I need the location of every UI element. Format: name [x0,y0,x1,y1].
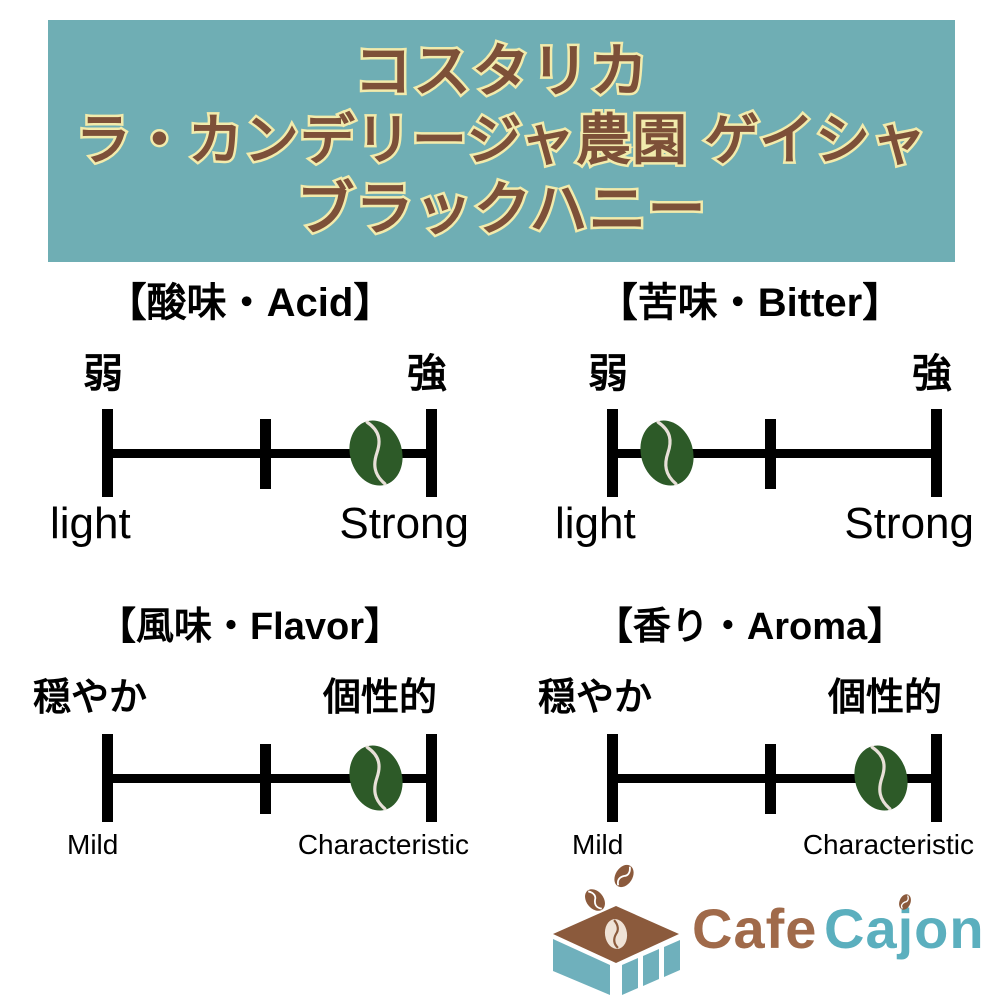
logo-word-cafe: Cafe [692,897,817,960]
floating-bean-1 [610,862,637,891]
title-banner: コスタリカ ラ・カンデリージャ農園 ゲイシャ ブラックハニー [48,20,955,262]
scale-axis-acid: 弱 強 light Strong [55,354,445,554]
axis-tick-max-bitter [931,409,942,497]
brand-logo: Cafe Cajon [540,862,1000,1000]
logo-wordmark: Cafe Cajon [692,890,1000,976]
axis-tick-max-flavor [426,734,437,822]
axis-high-label-jp-flavor: 個性的 [323,679,437,717]
scale-axis-flavor: 穏やか 個性的 Mild Characteristic [55,679,445,879]
axis-high-label-en-bitter: Strong [844,502,974,546]
axis-tick-min-acid [102,409,113,497]
axis-tick-mid-bitter [765,419,776,489]
title-line-2: ラ・カンデリージャ農園 ゲイシャ [76,107,927,174]
axis-low-label-en-bitter: light [555,502,636,546]
coffee-bean-marker-aroma [850,740,912,816]
axis-tick-mid-acid [260,419,271,489]
scale-block-flavor: 【風味・Flavor】 穏やか 個性的 Mild Characteristic [0,587,500,917]
cajon-slat-3 [664,940,680,977]
floating-bean-2 [581,885,609,914]
scale-axis-aroma: 穏やか 個性的 Mild Characteristic [560,679,950,879]
scale-title-bitter: 【苦味・Bitter】 [500,270,1000,328]
axis-high-label-jp-bitter: 強 [912,354,952,394]
axis-tick-max-acid [426,409,437,497]
cajon-slat-2 [643,949,659,986]
axis-tick-min-aroma [607,734,618,822]
axis-tick-min-bitter [607,409,618,497]
axis-low-label-jp-flavor: 穏やか [33,679,147,717]
axis-low-label-en-acid: light [50,502,131,546]
scale-title-aroma: 【香り・Aroma】 [500,595,1000,650]
scale-title-acid: 【酸味・Acid】 [0,270,500,328]
scale-block-acid: 【酸味・Acid】 弱 強 light Strong [0,262,500,592]
cajon-box-icon [540,862,700,1000]
axis-low-label-jp-acid: 弱 [83,354,123,394]
axis-low-label-jp-aroma: 穏やか [538,679,652,717]
axis-high-label-en-aroma: Characteristic [803,831,974,859]
axis-high-label-en-flavor: Characteristic [298,831,469,859]
scale-block-bitter: 【苦味・Bitter】 弱 強 light Strong [500,262,1000,592]
title-line-3: ブラックハニー [296,175,706,246]
axis-tick-mid-flavor [260,744,271,814]
axis-low-label-en-aroma: Mild [572,831,623,859]
coffee-bean-marker-bitter [636,415,698,491]
scale-title-flavor: 【風味・Flavor】 [0,595,500,650]
axis-tick-max-aroma [931,734,942,822]
axis-low-label-jp-bitter: 弱 [588,354,628,394]
axis-tick-mid-aroma [765,744,776,814]
axis-high-label-jp-acid: 強 [407,354,447,394]
cajon-slat-1 [622,958,638,995]
title-line-1: コスタリカ [354,37,649,108]
axis-low-label-en-flavor: Mild [67,831,118,859]
coffee-bean-marker-acid [345,415,407,491]
axis-high-label-en-acid: Strong [339,502,469,546]
axis-high-label-jp-aroma: 個性的 [828,679,942,717]
coffee-bean-marker-flavor [345,740,407,816]
scale-axis-bitter: 弱 強 light Strong [560,354,950,554]
axis-tick-min-flavor [102,734,113,822]
